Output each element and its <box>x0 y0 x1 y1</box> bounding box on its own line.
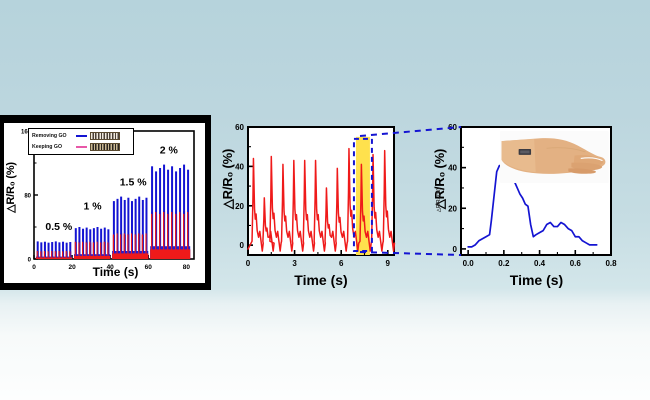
svg-text:60: 60 <box>448 123 457 132</box>
panel-pulse-train: △R/R₀ (%) 03690204060 Time (s) <box>214 115 400 290</box>
svg-text:0.4: 0.4 <box>534 259 546 268</box>
wrist-sensor-photo <box>500 131 609 183</box>
svg-text:20: 20 <box>235 202 244 211</box>
panel-a-x-axis-label: Time (s) <box>34 265 197 279</box>
legend-photo-removing-go <box>90 132 120 140</box>
svg-text:0.2: 0.2 <box>498 259 510 268</box>
panel-a-plot-card: △R/R₀ (%) 0204060800801600.5 %1 %1.5 %2 … <box>4 123 205 283</box>
panel-single-pulse: △R/R₀ (%) △R/R₀ (%) 0.00.20.40.60.802040… <box>425 115 617 290</box>
panel-c-x-axis-label: Time (s) <box>461 272 612 288</box>
panel-strain-cycles: △R/R₀ (%) 0204060800801600.5 %1 %1.5 %2 … <box>0 115 211 290</box>
svg-text:0: 0 <box>246 259 251 268</box>
svg-text:0: 0 <box>28 257 32 263</box>
svg-text:60: 60 <box>235 123 244 132</box>
svg-text:20: 20 <box>448 204 457 213</box>
svg-text:0.0: 0.0 <box>463 259 475 268</box>
legend-row-removing-go: Removing GO <box>32 131 130 141</box>
strain-label-2: 1.5 % <box>120 176 148 188</box>
svg-text:3: 3 <box>292 259 297 268</box>
wrist-sensor-illustration <box>500 131 609 183</box>
panel-a-legend: Removing GO Keeping GO <box>28 128 134 155</box>
strain-label-3: 2 % <box>160 144 179 156</box>
legend-row-keeping-go: Keeping GO <box>32 142 130 152</box>
panel-b-chart-canvas: 03690204060 <box>214 115 400 290</box>
legend-photo-keeping-go <box>90 143 120 151</box>
svg-text:80: 80 <box>24 193 31 199</box>
svg-text:9: 9 <box>386 259 391 268</box>
legend-line-removing-go <box>76 135 87 137</box>
panel-b-x-axis-label: Time (s) <box>248 272 394 288</box>
svg-text:0.8: 0.8 <box>605 259 617 268</box>
strain-label-0: 0.5 % <box>45 221 73 233</box>
legend-label-keeping-go: Keeping GO <box>32 144 73 150</box>
svg-text:0.6: 0.6 <box>570 259 582 268</box>
svg-text:0: 0 <box>240 241 245 250</box>
legend-label-removing-go: Removing GO <box>32 133 73 139</box>
svg-text:0: 0 <box>453 245 458 254</box>
legend-line-keeping-go <box>76 146 87 148</box>
svg-text:40: 40 <box>235 162 244 171</box>
strain-label-1: 1 % <box>84 200 103 212</box>
svg-text:40: 40 <box>448 164 457 173</box>
svg-text:6: 6 <box>339 259 344 268</box>
